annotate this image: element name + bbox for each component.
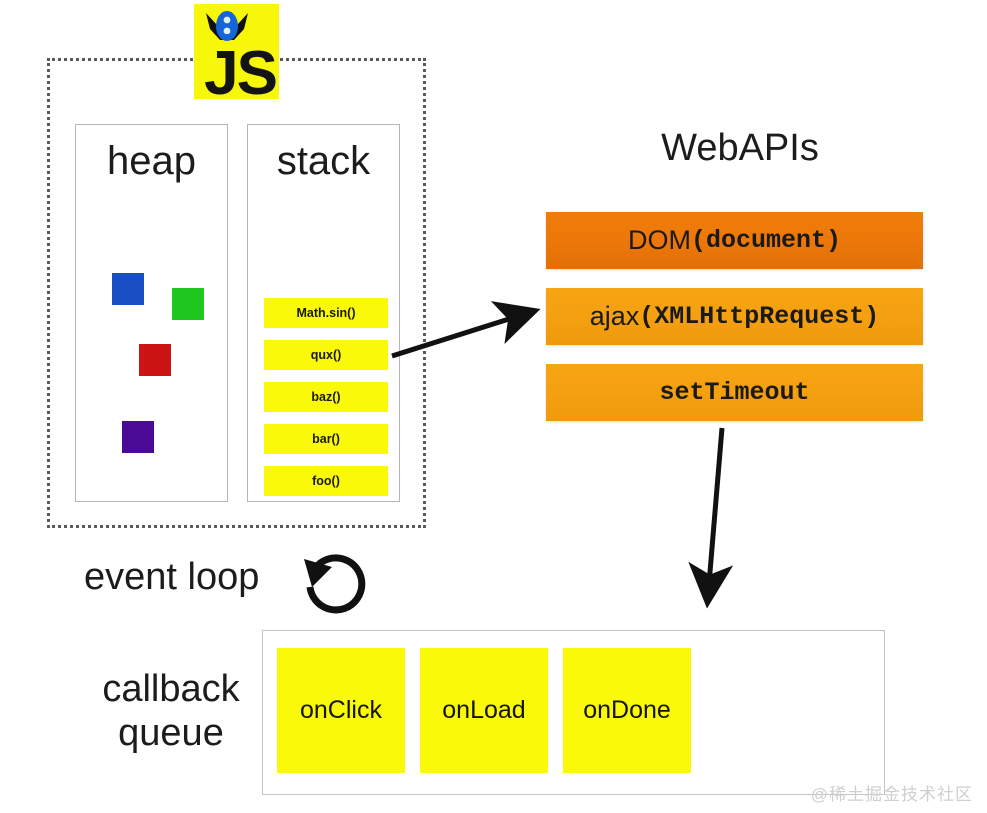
stack-title: stack (248, 139, 399, 184)
callback-queue-panel: onClick onLoad onDone (262, 630, 885, 795)
stack-frame-qux: qux() (264, 340, 388, 370)
event-loop-label: event loop (84, 556, 259, 599)
heap-panel: heap (75, 124, 228, 502)
webapi-settimeout-mono: setTimeout (659, 378, 809, 407)
stack-panel: stack Math.sin() qux() baz() bar() foo() (247, 124, 400, 502)
queue-item-onload: onLoad (420, 648, 548, 773)
webapi-box-ajax: ajax (XMLHttpRequest) (546, 288, 923, 345)
heap-object (122, 421, 154, 453)
callback-queue-label: callback queue (78, 668, 264, 755)
queue-item-onclick: onClick (277, 648, 405, 773)
callback-queue-label-line1: callback (78, 668, 264, 712)
diagram-canvas: JS heap stack Math.sin() qux() baz() bar… (0, 0, 987, 813)
webapi-box-settimeout: setTimeout (546, 364, 923, 421)
webapi-ajax-label: ajax (590, 301, 640, 332)
heap-title: heap (76, 139, 227, 184)
watermark: @稀土掘金技术社区 (811, 780, 973, 805)
js-logo: JS (194, 4, 279, 99)
stack-frame-baz: baz() (264, 382, 388, 412)
circular-arrow-icon (292, 545, 372, 625)
webapis-title: WebAPIs (620, 127, 860, 170)
stack-frame-foo: foo() (264, 466, 388, 496)
heap-object (112, 273, 144, 305)
webapi-dom-mono: (document) (691, 226, 841, 255)
js-logo-text: JS (204, 43, 276, 105)
webapi-dom-label: DOM (628, 225, 691, 256)
webapi-ajax-mono: (XMLHttpRequest) (639, 302, 879, 331)
webapi-box-dom: DOM (document) (546, 212, 923, 269)
heap-object (139, 344, 171, 376)
queue-item-ondone: onDone (563, 648, 691, 773)
arrow-webapis-to-queue (690, 424, 750, 624)
stack-frame-bar: bar() (264, 424, 388, 454)
stack-frame-math-sin: Math.sin() (264, 298, 388, 328)
callback-queue-label-line2: queue (78, 712, 264, 756)
heap-object (172, 288, 204, 320)
